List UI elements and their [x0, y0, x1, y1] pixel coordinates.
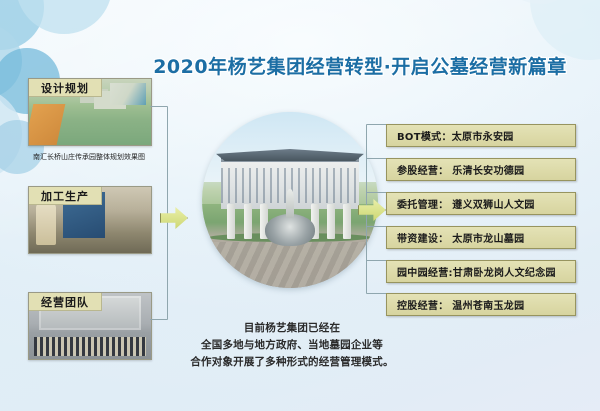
- bracket-tick: [367, 293, 387, 294]
- summary-paragraph: 目前杨艺集团已经在 全国多地与地方政府、当地墓园企业等 合作对象开展了多种形式的…: [178, 320, 406, 371]
- card-design-planning[interactable]: 设计规划: [28, 78, 152, 146]
- list-item[interactable]: 园中园经营:甘肃卧龙岗人文纪念园: [386, 260, 576, 283]
- list-item[interactable]: 委托管理： 遵义双狮山人文园: [386, 192, 576, 215]
- pillar: [227, 204, 235, 239]
- pillar: [327, 204, 335, 239]
- bracket-tick: [367, 260, 387, 261]
- bracket-tick: [367, 124, 387, 125]
- list-item[interactable]: BOT模式：太原市永安园: [386, 124, 576, 147]
- statue: [286, 189, 295, 217]
- paragraph-line-2: 全国多地与地方政府、当地墓园企业等: [178, 337, 406, 354]
- card-caption: 南汇长桥山庄传承园整体规划效果图: [28, 152, 150, 162]
- list-item[interactable]: 带资建设： 太原市龙山墓园: [386, 226, 576, 249]
- slide-canvas: 2020年杨艺集团经营转型·开启公墓经营新篇章 设计规划 南汇长桥山庄传承园整体…: [0, 0, 600, 411]
- slide-title-banner: 2020年杨艺集团经营转型·开启公墓经营新篇章: [150, 48, 570, 82]
- center-circular-photo: [202, 112, 378, 288]
- card-label: 经营团队: [29, 293, 102, 311]
- card-processing-production[interactable]: 加工生产: [28, 186, 152, 254]
- list-item[interactable]: 控股经营： 温州苍南玉龙园: [386, 293, 576, 316]
- bracket-tick: [367, 226, 387, 227]
- card-management-team[interactable]: 经营团队: [28, 292, 152, 360]
- left-bracket-spine: [167, 107, 168, 319]
- left-bracket: [150, 106, 168, 320]
- bracket-tick: [367, 158, 387, 159]
- paragraph-line-3: 合作对象开展了多种形式的经营管理模式。: [178, 354, 406, 371]
- pillar: [244, 204, 252, 239]
- fountain: [265, 214, 314, 246]
- card-label: 设计规划: [29, 79, 102, 97]
- bracket-tick: [367, 192, 387, 193]
- card-label: 加工生产: [29, 187, 102, 205]
- pillar: [343, 204, 351, 239]
- list-item[interactable]: 参股经营： 乐清长安功德园: [386, 158, 576, 181]
- paragraph-line-1: 目前杨艺集团已经在: [178, 320, 406, 337]
- plaza-paving: [213, 242, 368, 288]
- page-title: 2020年杨艺集团经营转型·开启公墓经营新篇章: [153, 52, 567, 79]
